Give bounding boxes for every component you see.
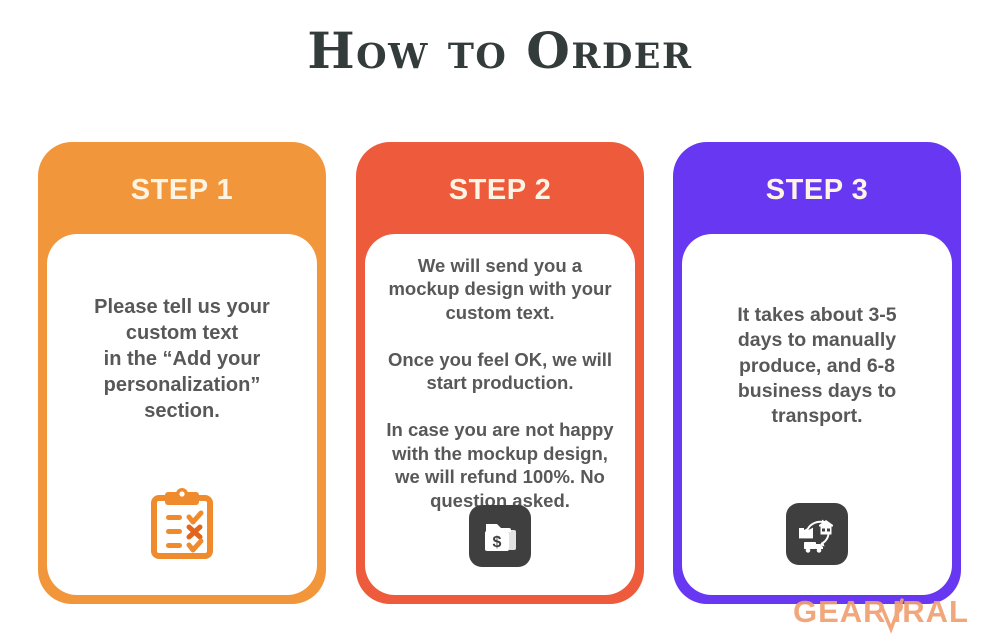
step-3-icon-wrap (682, 503, 952, 565)
svg-text:$: $ (493, 534, 502, 551)
step-3-label: STEP 3 (766, 174, 868, 207)
step-3-text: It takes about 3-5 days to manually prod… (696, 303, 938, 430)
gearviral-watermark: GEAR IRAL (793, 596, 969, 627)
clipboard-checklist-icon (150, 488, 214, 565)
step-card-3[interactable]: STEP 3 It takes about 3-5 days to manual… (673, 142, 961, 604)
step-card-1[interactable]: STEP 1 Please tell us your custom text i… (38, 142, 326, 604)
step-3-header: STEP 3 (673, 142, 961, 238)
step-2-icon-wrap: $ (365, 505, 635, 567)
step-1-icon-wrap (47, 488, 317, 565)
logistics-delivery-icon (786, 503, 848, 565)
step-3-body: It takes about 3-5 days to manually prod… (682, 234, 952, 595)
step-2-label: STEP 2 (449, 174, 551, 207)
step-1-header: STEP 1 (38, 142, 326, 238)
page-title: How to Order (0, 26, 1000, 76)
step-1-text: Please tell us your custom text in the “… (61, 294, 303, 424)
folder-dollar-icon: $ (469, 505, 531, 567)
step-2-text: We will send you a mockup design with yo… (379, 254, 621, 512)
watermark-text-before: GEAR (793, 596, 887, 627)
step-1-body: Please tell us your custom text in the “… (47, 234, 317, 595)
step-2-header: STEP 2 (356, 142, 644, 238)
step-1-label: STEP 1 (131, 174, 233, 207)
step-2-body: We will send you a mockup design with yo… (365, 234, 635, 595)
step-card-2[interactable]: STEP 2 We will send you a mockup design … (356, 142, 644, 604)
steps-container: STEP 1 Please tell us your custom text i… (0, 142, 1000, 612)
